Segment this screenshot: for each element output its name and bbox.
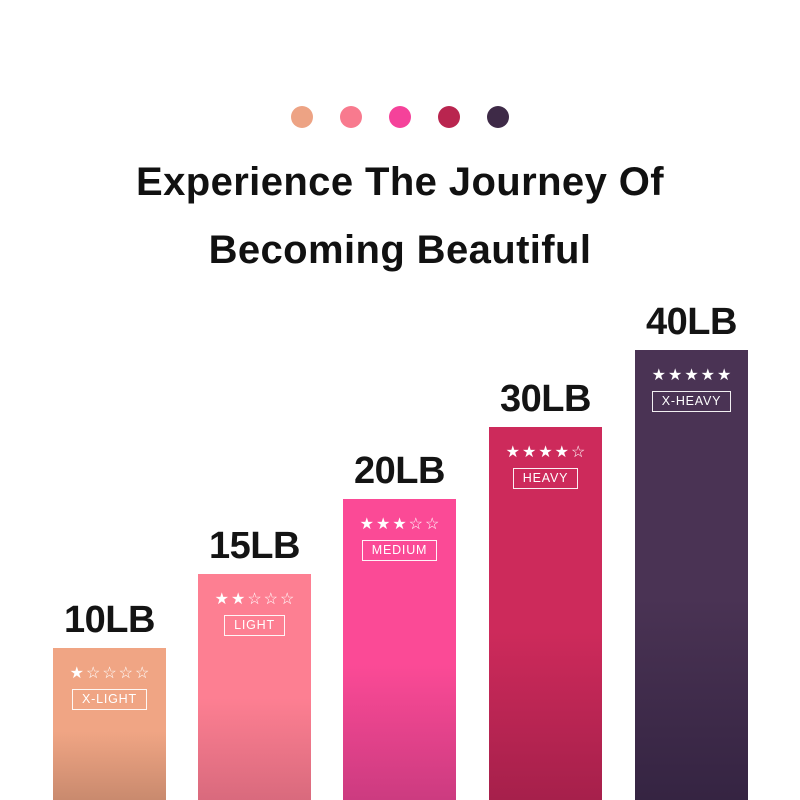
star-filled-icon: ★ [522,445,536,461]
star-filled-icon: ★ [668,368,682,384]
resistance-level-label: LIGHT [224,615,285,636]
star-empty-icon: ☆ [571,445,585,461]
star-filled-icon: ★ [70,666,84,682]
star-empty-icon: ☆ [280,592,294,608]
bar-body[interactable]: ★★☆☆☆LIGHT [198,574,311,800]
star-filled-icon: ★ [652,368,666,384]
star-filled-icon: ★ [376,517,390,533]
resistance-bar-chart: 10LB★☆☆☆☆X-LIGHT15LB★★☆☆☆LIGHT20LB★★★☆☆M… [0,0,800,800]
resistance-level-label: MEDIUM [362,540,438,561]
bar-group-15lb[interactable]: 15LB★★☆☆☆LIGHT [198,574,311,800]
star-empty-icon: ☆ [86,666,100,682]
star-filled-icon: ★ [684,368,698,384]
bar-value-label: 20LB [354,450,445,493]
star-empty-icon: ☆ [264,592,278,608]
bar-group-20lb[interactable]: 20LB★★★☆☆MEDIUM [343,499,456,800]
star-rating: ★★★★☆ [506,445,586,461]
bar-badge: ★★★★★X-HEAVY [635,368,748,412]
star-empty-icon: ☆ [119,666,133,682]
star-filled-icon: ★ [215,592,229,608]
bar-value-label: 30LB [500,378,591,421]
resistance-level-label: X-HEAVY [652,391,732,412]
star-rating: ★☆☆☆☆ [70,666,150,682]
star-empty-icon: ☆ [425,517,439,533]
bar-value-label: 40LB [646,301,737,344]
bar-group-40lb[interactable]: 40LB★★★★★X-HEAVY [635,350,748,800]
bar-body[interactable]: ★★★★★X-HEAVY [635,350,748,800]
star-filled-icon: ★ [701,368,715,384]
star-filled-icon: ★ [538,445,552,461]
star-rating: ★★★☆☆ [360,517,440,533]
star-rating: ★★☆☆☆ [215,592,295,608]
bar-value-label: 15LB [209,525,300,568]
bar-value-label: 10LB [64,599,155,642]
resistance-level-label: X-LIGHT [72,689,147,710]
bar-group-10lb[interactable]: 10LB★☆☆☆☆X-LIGHT [53,648,166,800]
star-empty-icon: ☆ [247,592,261,608]
resistance-level-label: HEAVY [513,468,578,489]
star-rating: ★★★★★ [652,368,732,384]
bar-badge: ★☆☆☆☆X-LIGHT [53,666,166,710]
infographic-page: Experience The Journey Of Becoming Beaut… [0,0,800,800]
bar-fill [635,350,748,800]
bar-body[interactable]: ★★★★☆HEAVY [489,427,602,800]
bar-badge: ★★★☆☆MEDIUM [343,517,456,561]
star-empty-icon: ☆ [102,666,116,682]
star-filled-icon: ★ [360,517,374,533]
bar-body[interactable]: ★☆☆☆☆X-LIGHT [53,648,166,800]
bar-badge: ★★☆☆☆LIGHT [198,592,311,636]
star-empty-icon: ☆ [409,517,423,533]
star-filled-icon: ★ [717,368,731,384]
star-filled-icon: ★ [392,517,406,533]
bar-group-30lb[interactable]: 30LB★★★★☆HEAVY [489,427,602,800]
bar-badge: ★★★★☆HEAVY [489,445,602,489]
star-filled-icon: ★ [231,592,245,608]
star-filled-icon: ★ [555,445,569,461]
star-empty-icon: ☆ [135,666,149,682]
star-filled-icon: ★ [506,445,520,461]
bar-body[interactable]: ★★★☆☆MEDIUM [343,499,456,800]
